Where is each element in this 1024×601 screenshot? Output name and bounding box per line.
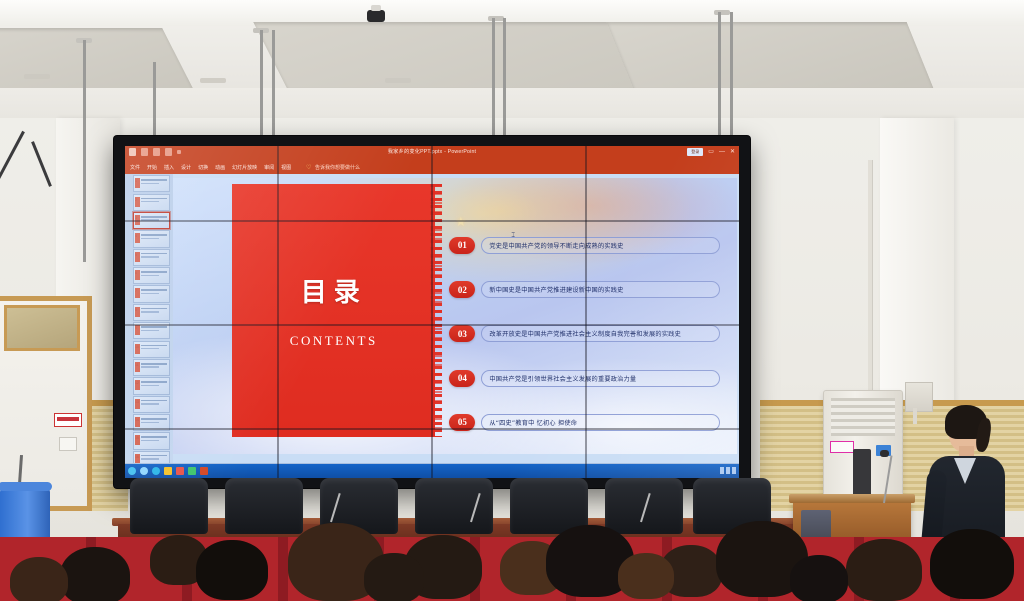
slide-thumbnail-12[interactable]: 12 bbox=[133, 377, 170, 394]
ribbon-options-icon[interactable]: ▭ bbox=[708, 148, 714, 156]
ribbon-tab-home[interactable]: 开始 bbox=[147, 164, 157, 171]
ribbon-tab-slideshow[interactable]: 幻灯片放映 bbox=[232, 164, 257, 171]
podium-microphone-head bbox=[880, 450, 889, 457]
thumbnail-lines bbox=[141, 400, 167, 402]
ceiling-recess-panel bbox=[607, 22, 934, 88]
thumbnail-red-block bbox=[135, 197, 140, 207]
thumbnail-lines bbox=[141, 345, 167, 347]
tell-me-input[interactable]: 告诉我你想要做什么 bbox=[315, 164, 360, 171]
slide-thumbnail-5[interactable]: 5 bbox=[133, 249, 170, 266]
thumbnail-red-block bbox=[135, 344, 140, 354]
start-icon[interactable] bbox=[128, 467, 136, 475]
contents-number-badge: 02 bbox=[449, 281, 475, 298]
thumbnail-lines bbox=[141, 326, 167, 328]
ceiling-vent-icon bbox=[385, 78, 411, 83]
panel-seam-horizontal bbox=[125, 220, 739, 222]
thumbnail-red-block bbox=[135, 270, 140, 280]
thumbnail-red-block bbox=[135, 325, 140, 335]
trash-bin-rim bbox=[0, 482, 52, 491]
hanging-rod bbox=[83, 40, 86, 262]
ribbon-tab-view[interactable]: 视图 bbox=[281, 164, 291, 171]
audience-head bbox=[10, 557, 68, 601]
ribbon-tab-insert[interactable]: 插入 bbox=[164, 164, 174, 171]
close-icon[interactable]: ✕ bbox=[730, 148, 735, 156]
door-window bbox=[4, 305, 80, 351]
search-icon[interactable] bbox=[140, 467, 148, 475]
slide-thumbnail-11[interactable]: 11 bbox=[133, 359, 170, 376]
thumbnail-red-block bbox=[135, 435, 140, 445]
audience-head bbox=[618, 553, 674, 599]
rod-mount bbox=[488, 16, 504, 21]
slide-thumbnail-2[interactable]: 2 bbox=[133, 194, 170, 211]
clock-icon[interactable] bbox=[732, 467, 736, 474]
contents-number-badge: 03 bbox=[449, 325, 475, 342]
thumbnail-lines bbox=[141, 253, 167, 255]
audience-head bbox=[846, 539, 922, 601]
video-wall-screen[interactable]: 我家乡的变化PPT.pptx - PowerPoint 登录 ▭ — ✕ 文件 … bbox=[125, 146, 739, 478]
slide-thumbnail-15[interactable]: 15 bbox=[133, 432, 170, 449]
contents-text-capsule[interactable]: 改革开放史是中国共产党推进社会主义制度自我完善和发展的实践史 bbox=[481, 325, 720, 342]
ribbon-tab-animation[interactable]: 动画 bbox=[215, 164, 225, 171]
thumbnail-red-block bbox=[135, 380, 140, 390]
ceiling-camera-icon bbox=[367, 10, 385, 22]
thumbnail-lines bbox=[141, 418, 167, 420]
wall-sign bbox=[54, 413, 82, 427]
thumbnail-lines bbox=[141, 289, 167, 291]
slide-thumbnail-1[interactable]: 1 bbox=[133, 175, 170, 192]
ceiling-vent-icon bbox=[200, 78, 226, 83]
system-tray[interactable] bbox=[720, 467, 736, 474]
panel-seam-horizontal bbox=[125, 428, 739, 430]
slide-thumbnail-10[interactable]: 10 bbox=[133, 341, 170, 358]
video-wall[interactable]: 我家乡的变化PPT.pptx - PowerPoint 登录 ▭ — ✕ 文件 … bbox=[114, 136, 750, 488]
panel-seam-horizontal bbox=[125, 324, 739, 326]
thumbnail-lines bbox=[141, 381, 167, 383]
text-cursor-icon: ⌶ bbox=[511, 233, 515, 240]
network-icon[interactable] bbox=[720, 467, 724, 474]
slide-thumbnail-6[interactable]: 6 bbox=[133, 267, 170, 284]
contents-number-badge: 04 bbox=[449, 370, 475, 387]
browser-icon[interactable] bbox=[152, 467, 160, 475]
slide-thumbnail-4[interactable]: 4 bbox=[133, 230, 170, 247]
audience-head bbox=[790, 555, 848, 601]
wall-pillar-right bbox=[880, 118, 954, 418]
thumbnail-lines bbox=[141, 363, 167, 365]
folder-icon[interactable] bbox=[164, 467, 172, 475]
thumbnail-lines bbox=[141, 436, 167, 438]
lecture-hall-scene: 我家乡的变化PPT.pptx - PowerPoint 登录 ▭ — ✕ 文件 … bbox=[0, 0, 1024, 601]
audience-head bbox=[196, 540, 268, 600]
thumbnail-red-block bbox=[135, 288, 140, 298]
wall-junction-box bbox=[905, 382, 933, 412]
audience-head bbox=[364, 553, 424, 601]
thumbnail-red-block bbox=[135, 399, 140, 409]
contents-text-capsule[interactable]: 党史是中国共产党的领导不断走向成熟的实践史 bbox=[481, 237, 720, 254]
thumbnail-lines bbox=[141, 271, 167, 273]
wall-conduit bbox=[868, 160, 873, 410]
thumbnail-red-block bbox=[135, 252, 140, 262]
thumbnail-lines bbox=[141, 308, 167, 310]
audience-head bbox=[930, 529, 1014, 599]
volume-icon[interactable] bbox=[726, 467, 730, 474]
thumbnail-red-block bbox=[135, 362, 140, 372]
thumbnail-red-block bbox=[135, 417, 140, 427]
wall-pipe bbox=[913, 408, 917, 424]
audience-head bbox=[60, 547, 130, 601]
ac-louvers bbox=[831, 398, 895, 436]
rod-mount bbox=[714, 10, 730, 15]
slide-thumbnail-8[interactable]: 8 bbox=[133, 304, 170, 321]
thumbnail-lines bbox=[141, 234, 167, 236]
contents-number-badge: 01 bbox=[449, 237, 475, 254]
tell-me-bulb-icon: ♡ bbox=[306, 164, 311, 171]
minimize-icon[interactable]: — bbox=[719, 148, 725, 156]
ppt-icon[interactable] bbox=[200, 467, 208, 475]
slide-thumbnail-pane[interactable]: 12345678910111213141516171819 bbox=[125, 174, 173, 464]
window-controls[interactable]: 登录 ▭ — ✕ bbox=[687, 148, 735, 156]
ribbon-tab-design[interactable]: 设计 bbox=[181, 164, 191, 171]
slide-thumbnail-13[interactable]: 13 bbox=[133, 396, 170, 413]
ribbon-tabs[interactable]: 文件 开始 插入 设计 切换 动画 幻灯片放映 审阅 视图 bbox=[130, 164, 291, 171]
thumbnail-red-block bbox=[135, 178, 140, 188]
thumbnail-lines bbox=[141, 216, 167, 218]
sign-in-button[interactable]: 登录 bbox=[687, 148, 703, 156]
thumbnail-lines bbox=[141, 455, 167, 457]
ribbon-tab-transition[interactable]: 切换 bbox=[198, 164, 208, 171]
audience-area bbox=[0, 495, 1024, 601]
contents-text-capsule[interactable]: 中国共产党是引领世界社会主义发展的重要政治力量 bbox=[481, 370, 720, 387]
chat-icon[interactable] bbox=[188, 467, 196, 475]
thumbnail-lines bbox=[141, 198, 167, 200]
room-door[interactable] bbox=[0, 296, 92, 511]
slide-thumbnail-7[interactable]: 7 bbox=[133, 285, 170, 302]
thumbnail-lines bbox=[141, 179, 167, 181]
ribbon-tab-file[interactable]: 文件 bbox=[130, 164, 140, 171]
thumbnail-red-block bbox=[135, 307, 140, 317]
contents-text-capsule[interactable]: 新中国史是中国共产党推进建设新中国的实践史 bbox=[481, 281, 720, 298]
ceiling-vent-icon bbox=[24, 74, 50, 79]
media-icon[interactable] bbox=[176, 467, 184, 475]
thumbnail-red-block bbox=[135, 233, 140, 243]
ribbon-tab-review[interactable]: 审阅 bbox=[264, 164, 274, 171]
light-switch[interactable] bbox=[59, 437, 77, 451]
slide-stage[interactable]: ★ 目录 CONTENTS 01党史是中国共产党的领导不断走向成熟的实践史02新… bbox=[173, 174, 739, 464]
ac-label bbox=[830, 441, 854, 453]
